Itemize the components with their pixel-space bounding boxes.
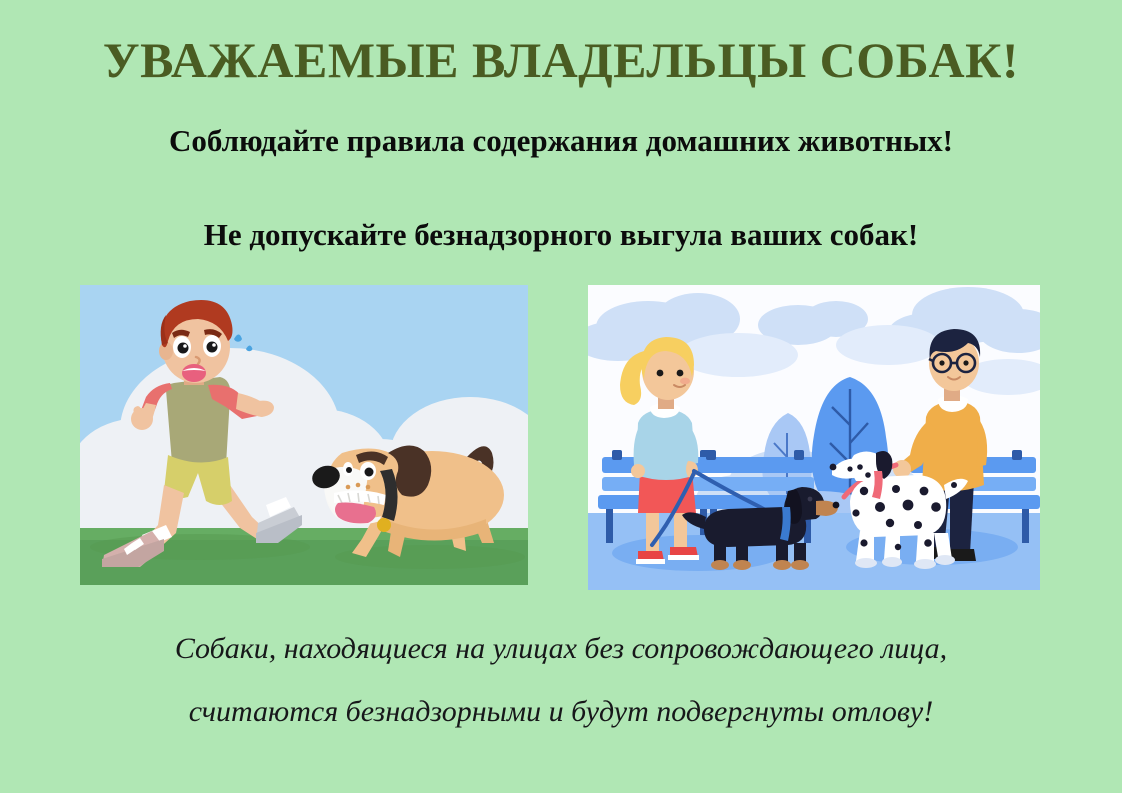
dog-tag <box>377 518 391 532</box>
footer-line-2: считаются безнадзорными и будут подвергн… <box>0 680 1122 743</box>
footer-text: Собаки, находящиеся на улицах без сопров… <box>0 617 1122 743</box>
boy-sweater <box>922 401 984 491</box>
subtitle-line-1: Соблюдайте правила содержания домашних ж… <box>0 123 1122 159</box>
subtitle-line-2: Не допускайте безнадзорного выгула ваших… <box>0 217 1122 253</box>
page-title: УВАЖАЕМЫЕ ВЛАДЕЛЬЦЫ СОБАК! <box>0 34 1122 87</box>
illustration-owners-walking-dogs <box>588 285 1040 590</box>
poster: УВАЖАЕМЫЕ ВЛАДЕЛЬЦЫ СОБАК! Соблюдайте пр… <box>0 0 1122 793</box>
footer-line-1: Собаки, находящиеся на улицах без сопров… <box>0 617 1122 680</box>
illustration-boy-chased-by-dog <box>80 285 528 585</box>
